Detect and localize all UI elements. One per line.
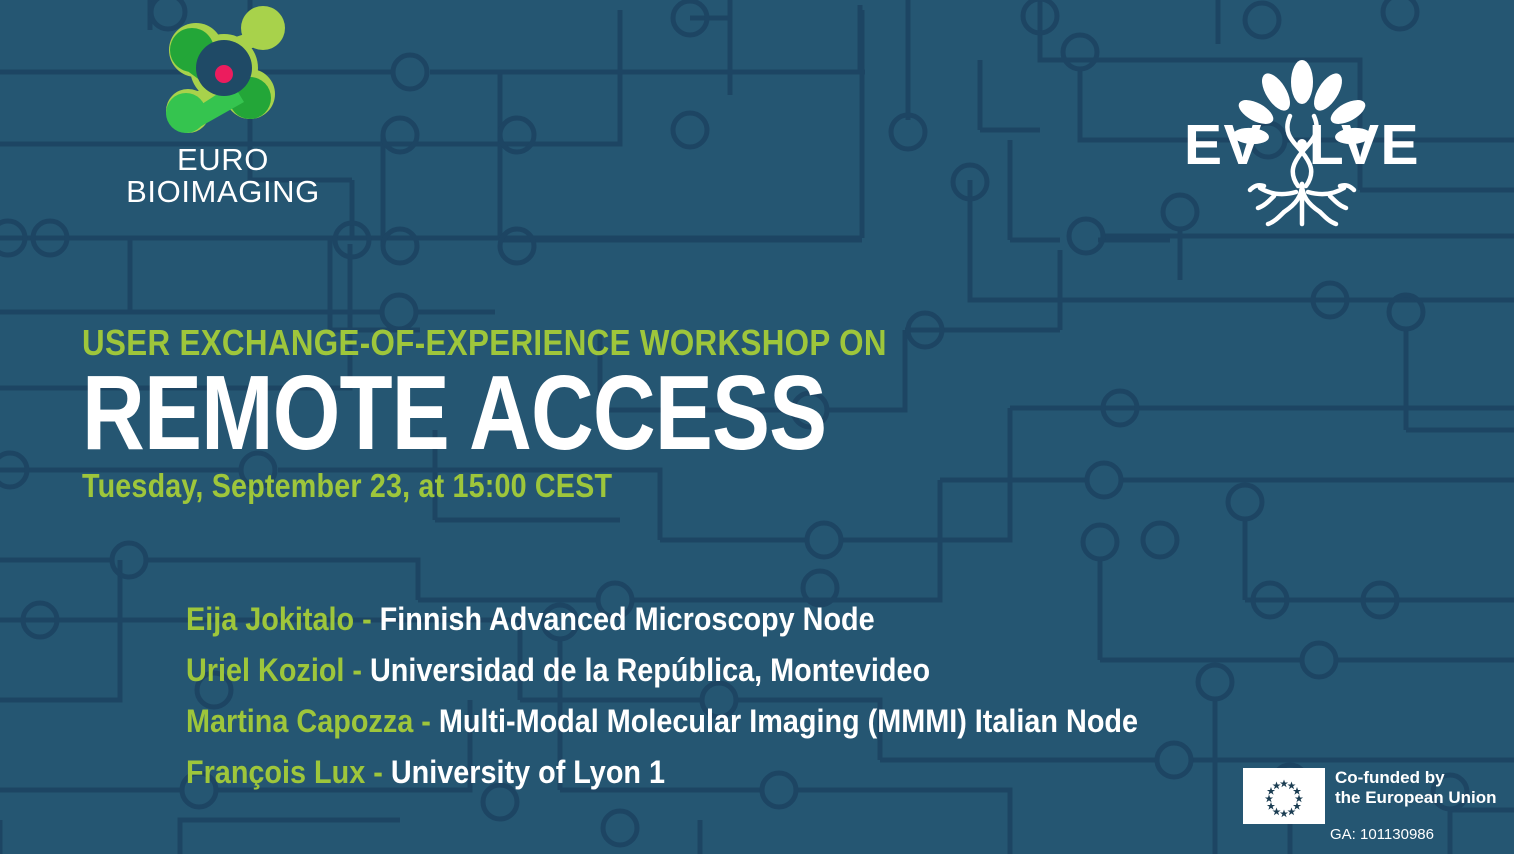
speaker-name: François Lux: [186, 754, 365, 790]
speaker-name: Eija Jokitalo: [186, 601, 354, 637]
euro-bioimaging-wordmark: EURO BIOIMAGING: [108, 144, 338, 207]
speaker-separator: -: [373, 754, 383, 790]
event-datetime: Tuesday, September 23, at 15:00 CEST: [82, 469, 887, 502]
speaker-row: Eija Jokitalo - Finnish Advanced Microsc…: [186, 603, 1138, 635]
evolve-wordmark-part-3: LVE: [1309, 113, 1420, 177]
eu-funding-badge: Co-funded by the European Union: [1243, 768, 1497, 824]
speaker-affiliation: University of Lyon 1: [391, 754, 665, 790]
speakers-list: Eija Jokitalo - Finnish Advanced Microsc…: [186, 603, 1244, 807]
euro-bioimaging-line-2: BIOIMAGING: [108, 176, 338, 208]
speaker-name: Uriel Koziol: [186, 652, 344, 688]
eu-cofunded-line-1: Co-funded by: [1335, 768, 1497, 788]
eu-cofunded-text: Co-funded by the European Union: [1335, 768, 1497, 808]
speaker-row: Martina Capozza - Multi-Modal Molecular …: [186, 705, 1138, 737]
speaker-separator: -: [362, 601, 372, 637]
euro-bioimaging-logo: EURO BIOIMAGING: [108, 6, 338, 231]
eu-flag-icon: [1243, 768, 1325, 824]
speaker-row: Uriel Koziol - Universidad de la Repúbli…: [186, 654, 1138, 686]
euro-bioimaging-line-1: EURO: [108, 144, 338, 176]
molecule-icon: [158, 6, 288, 138]
speaker-separator: -: [352, 652, 362, 688]
speaker-affiliation: Finnish Advanced Microscopy Node: [380, 601, 875, 637]
evolve-wordmark: EVOLVE: [1178, 117, 1426, 174]
poster-canvas: EURO BIOIMAGING: [0, 0, 1514, 854]
page-title: REMOTE ACCESS: [82, 365, 841, 463]
evolve-wordmark-part-1: EV: [1184, 113, 1263, 177]
eu-funding-text: Co-funded by the European Union: [1335, 768, 1497, 808]
evolve-logo: EVOLVE: [1178, 60, 1426, 232]
speaker-name: Martina Capozza: [186, 703, 413, 739]
speaker-affiliation: Universidad de la República, Montevideo: [370, 652, 930, 688]
speaker-affiliation: Multi-Modal Molecular Imaging (MMMI) Ita…: [439, 703, 1138, 739]
headline-block: USER EXCHANGE-OF-EXPERIENCE WORKSHOP ON …: [82, 325, 1007, 502]
grant-agreement-number: GA: 101130986: [1330, 826, 1434, 843]
eu-cofunded-line-2: the European Union: [1335, 788, 1497, 808]
speaker-separator: -: [421, 703, 431, 739]
speaker-row: François Lux - University of Lyon 1: [186, 756, 1138, 788]
